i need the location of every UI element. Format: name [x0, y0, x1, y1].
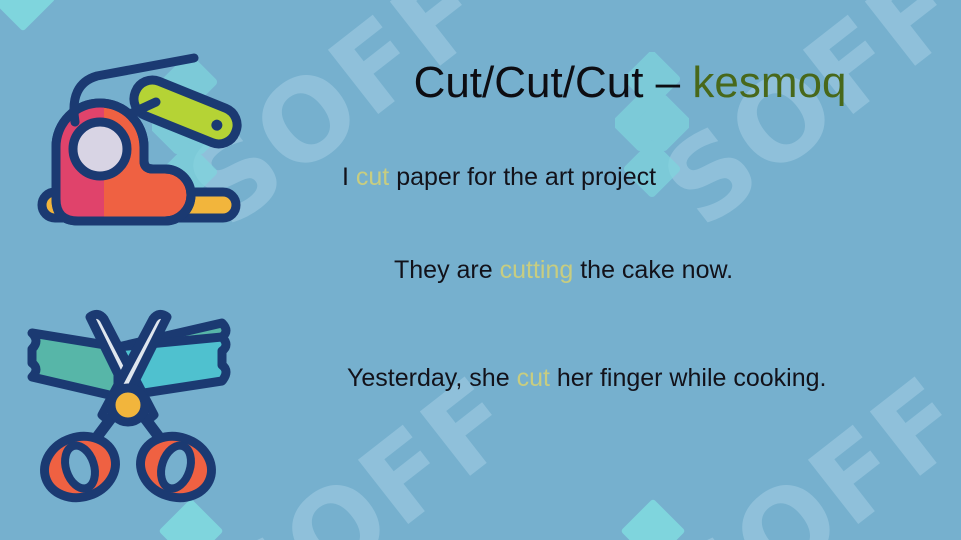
- sentence-3-after: her finger while cooking.: [550, 364, 827, 392]
- example-sentence-present-simple: I cut paper for the art project: [342, 163, 656, 192]
- sentence-1-after: paper for the art project: [389, 163, 656, 191]
- sentence-2-before: They are: [394, 256, 500, 284]
- tape-dispenser-illustration: [34, 52, 244, 227]
- scissors-illustration: [22, 305, 232, 505]
- sentence-1-before: I: [342, 163, 356, 191]
- sentence-3-before: Yesterday, she: [347, 364, 517, 392]
- sentence-3-highlight: cut: [517, 364, 550, 392]
- sentence-2-highlight: cutting: [500, 256, 574, 284]
- title-main-text: Cut/Cut/Cut: [414, 58, 644, 107]
- sentence-1-highlight: cut: [356, 163, 389, 191]
- example-sentence-past-simple: Yesterday, she cut her finger while cook…: [347, 364, 826, 393]
- watermark-text-top-right: SOFF: [640, 0, 961, 252]
- sentence-2-after: the cake now.: [573, 256, 733, 284]
- example-sentence-present-continuous: They are cutting the cake now.: [394, 256, 733, 285]
- slide-canvas: SOFF SOFF SOFF SOFF: [0, 0, 961, 540]
- title-translation-text: kesmoq: [692, 58, 846, 107]
- watermark-diamond-bottom-right: [620, 498, 685, 540]
- watermark-diamond-top-left: [0, 0, 56, 32]
- slide-title: Cut/Cut/Cut – kesmoq: [330, 58, 930, 109]
- title-separator: –: [643, 58, 692, 107]
